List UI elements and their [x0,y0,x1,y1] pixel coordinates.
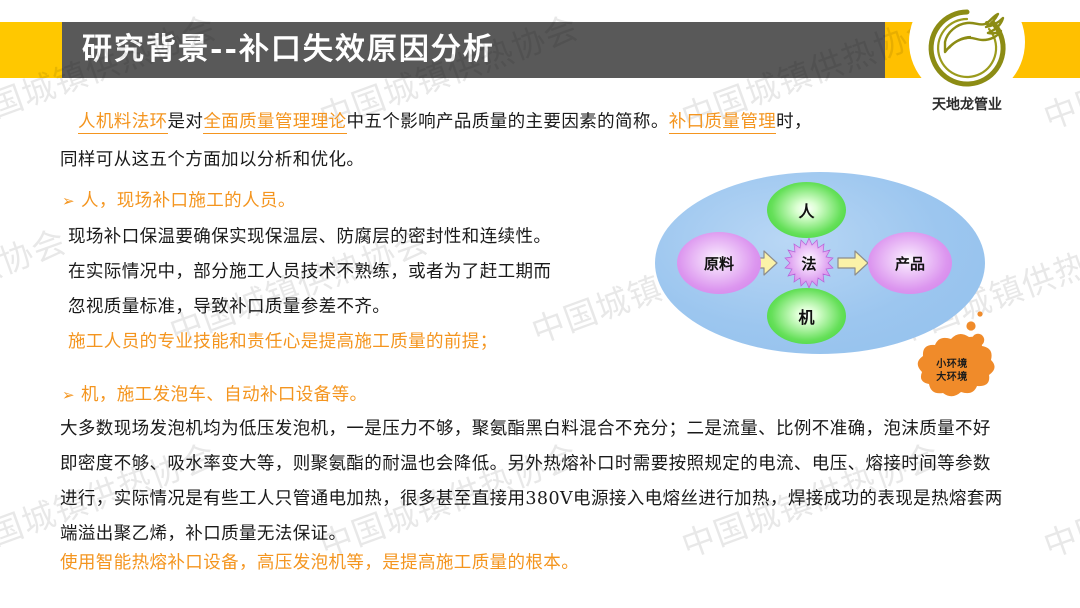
section-1-line-3: 忽视质量标准，导致补口质量参差不齐。 [68,293,390,318]
intro-text-b: 中五个影响产品质量的主要因素的简称。 [347,112,669,132]
section-1-bullet-label: 人，现场补口施工的人员。 [81,191,296,211]
slide-canvas: 研究背景--补口失效原因分析 天地龙管业 中国城镇供热协会中国城镇供热协会中国城… [0,0,1080,608]
term-tqm-theory: 全面质量管理理论 [203,112,346,134]
section-2-line-1: 大多数现场发泡机均为低压发泡机，一是压力不够，聚氨酯黑白料混合不充分；二是流量、… [60,415,991,440]
term-joint-quality-mgmt: 补口质量管理 [669,112,776,134]
section-1-bullet: ➢人，现场补口施工的人员。 [62,187,296,212]
bullet-arrow-icon: ➢ [62,192,81,210]
section-2-line-2: 即密度不够、吸水率变大等，则聚氨酯的耐温也会降低。另外热熔补口时需要按照规定的电… [60,450,991,475]
slide-content: 人机料法环是对全面质量管理理论中五个影响产品质量的主要因素的简称。补口质量管理时… [0,0,1080,608]
bullet-arrow-icon: ➢ [62,386,81,404]
intro-line-2: 同样可从这五个方面加以分析和优化。 [60,146,364,171]
intro-text-c: 时， [776,112,812,132]
section-1-conclusion: 施工人员的专业技能和责任心是提高施工质量的前提； [68,328,498,353]
intro-line-1: 人机料法环是对全面质量管理理论中五个影响产品质量的主要因素的简称。补口质量管理时… [78,108,812,133]
term-renjiliaofahuan: 人机料法环 [78,112,168,134]
section-2-line-3: 进行，实际情况是有些工人只管通电加热，很多甚至直接用380V电源接入电熔丝进行加… [60,485,1003,510]
section-1-line-2: 在实际情况中，部分施工人员技术不熟练，或者为了赶工期而 [68,258,551,283]
section-2-bullet-label: 机，施工发泡车、自动补口设备等。 [81,385,367,405]
section-2-conclusion: 使用智能热熔补口设备，高压发泡机等，是提高施工质量的根本。 [60,549,579,574]
section-2-bullet: ➢机，施工发泡车、自动补口设备等。 [62,381,367,406]
intro-text-a: 是对 [168,112,204,132]
section-2-line-4: 端溢出聚乙烯，补口质量无法保证。 [60,520,346,545]
section-1-line-1: 现场补口保温要确保实现保温层、防腐层的密封性和连续性。 [68,223,551,248]
